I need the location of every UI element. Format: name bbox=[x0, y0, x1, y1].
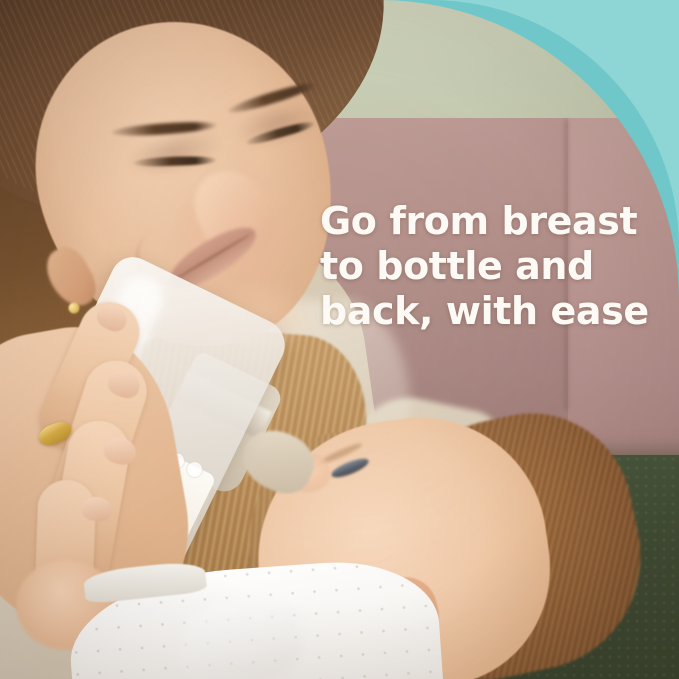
headline-line-2: to bottle and bbox=[320, 244, 650, 289]
headline-line-1: Go from breast bbox=[320, 199, 650, 244]
product-lifestyle-photo bbox=[0, 0, 679, 679]
headline-line-3: back, with ease bbox=[320, 289, 650, 334]
baby-onesie-fold bbox=[180, 600, 300, 679]
advertisement-canvas: Go from breast to bottle and back, with … bbox=[0, 0, 679, 679]
headline: Go from breast to bottle and back, with … bbox=[320, 199, 650, 334]
